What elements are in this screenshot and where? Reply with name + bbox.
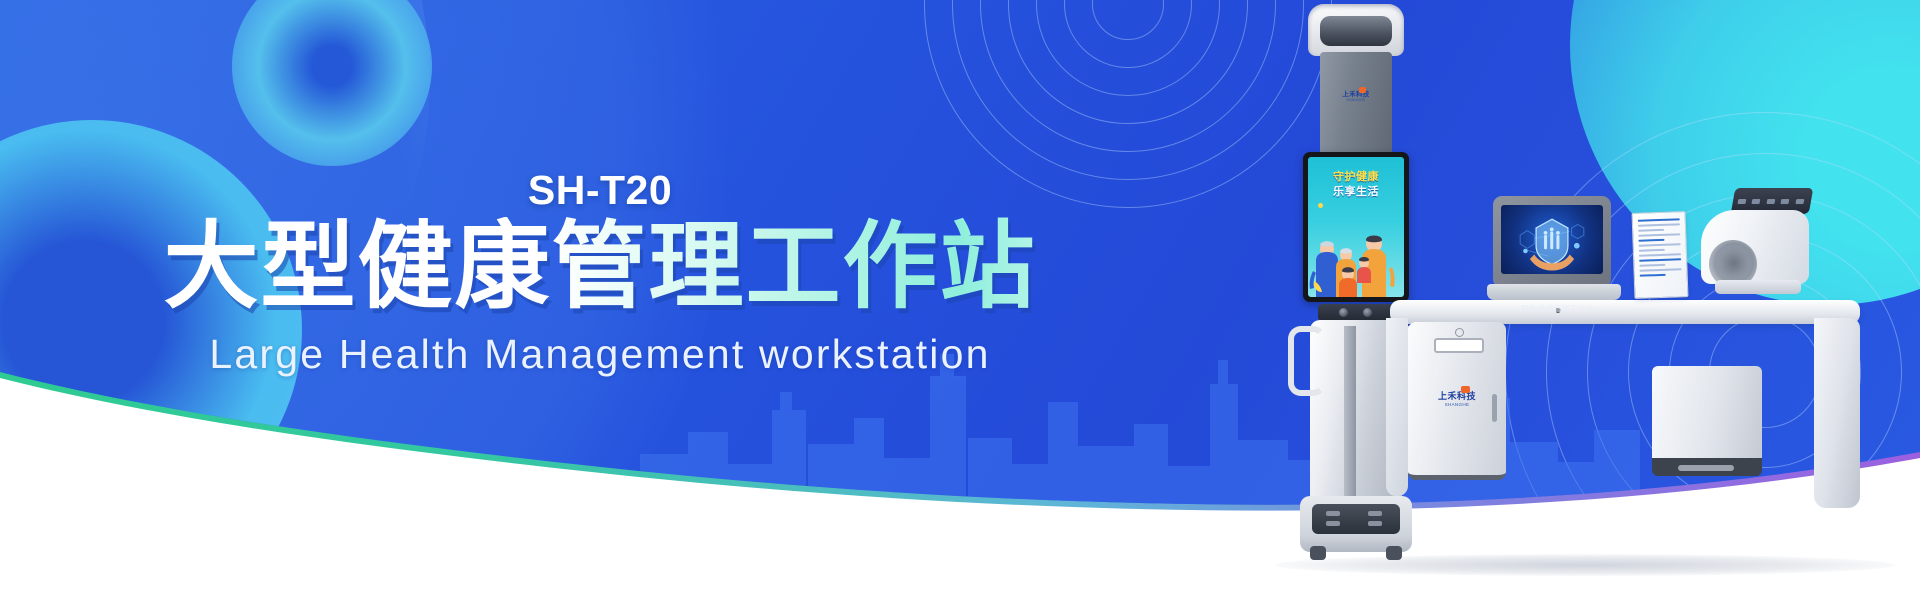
leaflet-line (1638, 223, 1680, 226)
bpm-key (1752, 199, 1761, 204)
brand-name-en: SHANGHE (1425, 402, 1489, 407)
leaflet-line (1640, 274, 1666, 277)
desk-surface (1390, 300, 1860, 324)
laptop-bezel (1493, 196, 1611, 288)
handle-left (1288, 326, 1326, 396)
leaflet-line (1639, 243, 1681, 246)
bpm-key (1781, 199, 1790, 204)
brand-name-cn: 上禾科技 (1425, 389, 1489, 402)
electrode-pad (1368, 511, 1382, 516)
bpm-stand (1715, 280, 1801, 294)
desk-leg-right (1814, 318, 1860, 508)
blood-pressure-monitor (1697, 188, 1821, 300)
bpm-key (1795, 199, 1804, 204)
brand-logo-kiosk: 上禾科技 SHANGHE (1333, 86, 1379, 102)
kiosk-column: 上禾科技 SHANGHE (1320, 52, 1392, 158)
lock-icon (1455, 328, 1464, 337)
sun-icon (1318, 203, 1323, 208)
leaflet-line (1638, 239, 1664, 242)
workstation-desk: 上禾科技 SHANGHE (1390, 300, 1860, 550)
sensor-led-right (1363, 308, 1372, 317)
ad-headline-1: 守护健康 (1308, 168, 1404, 184)
leaflet-line (1638, 229, 1664, 232)
family-illustration (1308, 219, 1404, 297)
leaflet-line (1638, 218, 1680, 221)
laptop-base (1487, 284, 1621, 300)
leaflet-line (1639, 264, 1665, 267)
laptop-caption: 智能健康管理工作站 (1493, 303, 1623, 314)
logo-accent-dot (1461, 386, 1470, 393)
logo-accent-dot (1359, 87, 1366, 93)
cabinet-handle (1492, 394, 1497, 422)
brand-name-cn: 上禾科技 (1333, 88, 1379, 98)
leaflet-line (1640, 268, 1682, 271)
bpm-key (1737, 199, 1746, 204)
storage-cabinet: 上禾科技 SHANGHE (1408, 322, 1506, 480)
product-image: 上禾科技 SHANGHE 守护健康 乐享生活 (1255, 0, 1920, 600)
camera-icon (1308, 4, 1404, 56)
electrode-pad (1368, 521, 1382, 526)
advertisement-screen: 守护健康 乐享生活 (1308, 157, 1404, 297)
hero-copy: SH-T20 大型健康管理工作站 Large Health Management… (0, 170, 1200, 375)
sensor-led-left (1339, 308, 1348, 317)
brand-logo-cabinet: 上禾科技 SHANGHE (1425, 386, 1489, 407)
sensor-icon (1318, 304, 1394, 321)
leaflet-line (1639, 253, 1681, 256)
ad-headline-2: 乐享生活 (1308, 183, 1404, 199)
brand-name-en: SHANGHE (1333, 98, 1379, 102)
workstation-laptop: 智能健康管理工作站 (1493, 196, 1623, 316)
printer-unit (1652, 366, 1762, 476)
card-slot (1434, 338, 1484, 353)
camera-lens (1346, 23, 1366, 37)
bpm-key (1766, 199, 1775, 204)
bpm-housing (1701, 210, 1809, 284)
leaflet-line (1639, 249, 1665, 252)
report-leaflet (1632, 211, 1689, 299)
weight-scale-platform (1312, 504, 1400, 534)
desk-leg-left (1386, 318, 1408, 496)
page-subtitle: Large Health Management workstation (0, 334, 1200, 375)
leaflet-line (1639, 258, 1681, 261)
leaflet-line (1638, 233, 1680, 236)
model-code: SH-T20 (0, 170, 1200, 211)
laptop-display[interactable] (1501, 205, 1603, 274)
health-shield-graphic (1501, 205, 1603, 274)
caster-wheel (1310, 546, 1326, 560)
electrode-pad (1326, 511, 1340, 516)
page-title: 大型健康管理工作站 (0, 217, 1200, 318)
electrode-pad (1326, 521, 1340, 526)
product-hero-banner: SH-T20 大型健康管理工作站 Large Health Management… (0, 0, 1920, 600)
kiosk-display[interactable]: 守护健康 乐享生活 (1303, 152, 1409, 302)
